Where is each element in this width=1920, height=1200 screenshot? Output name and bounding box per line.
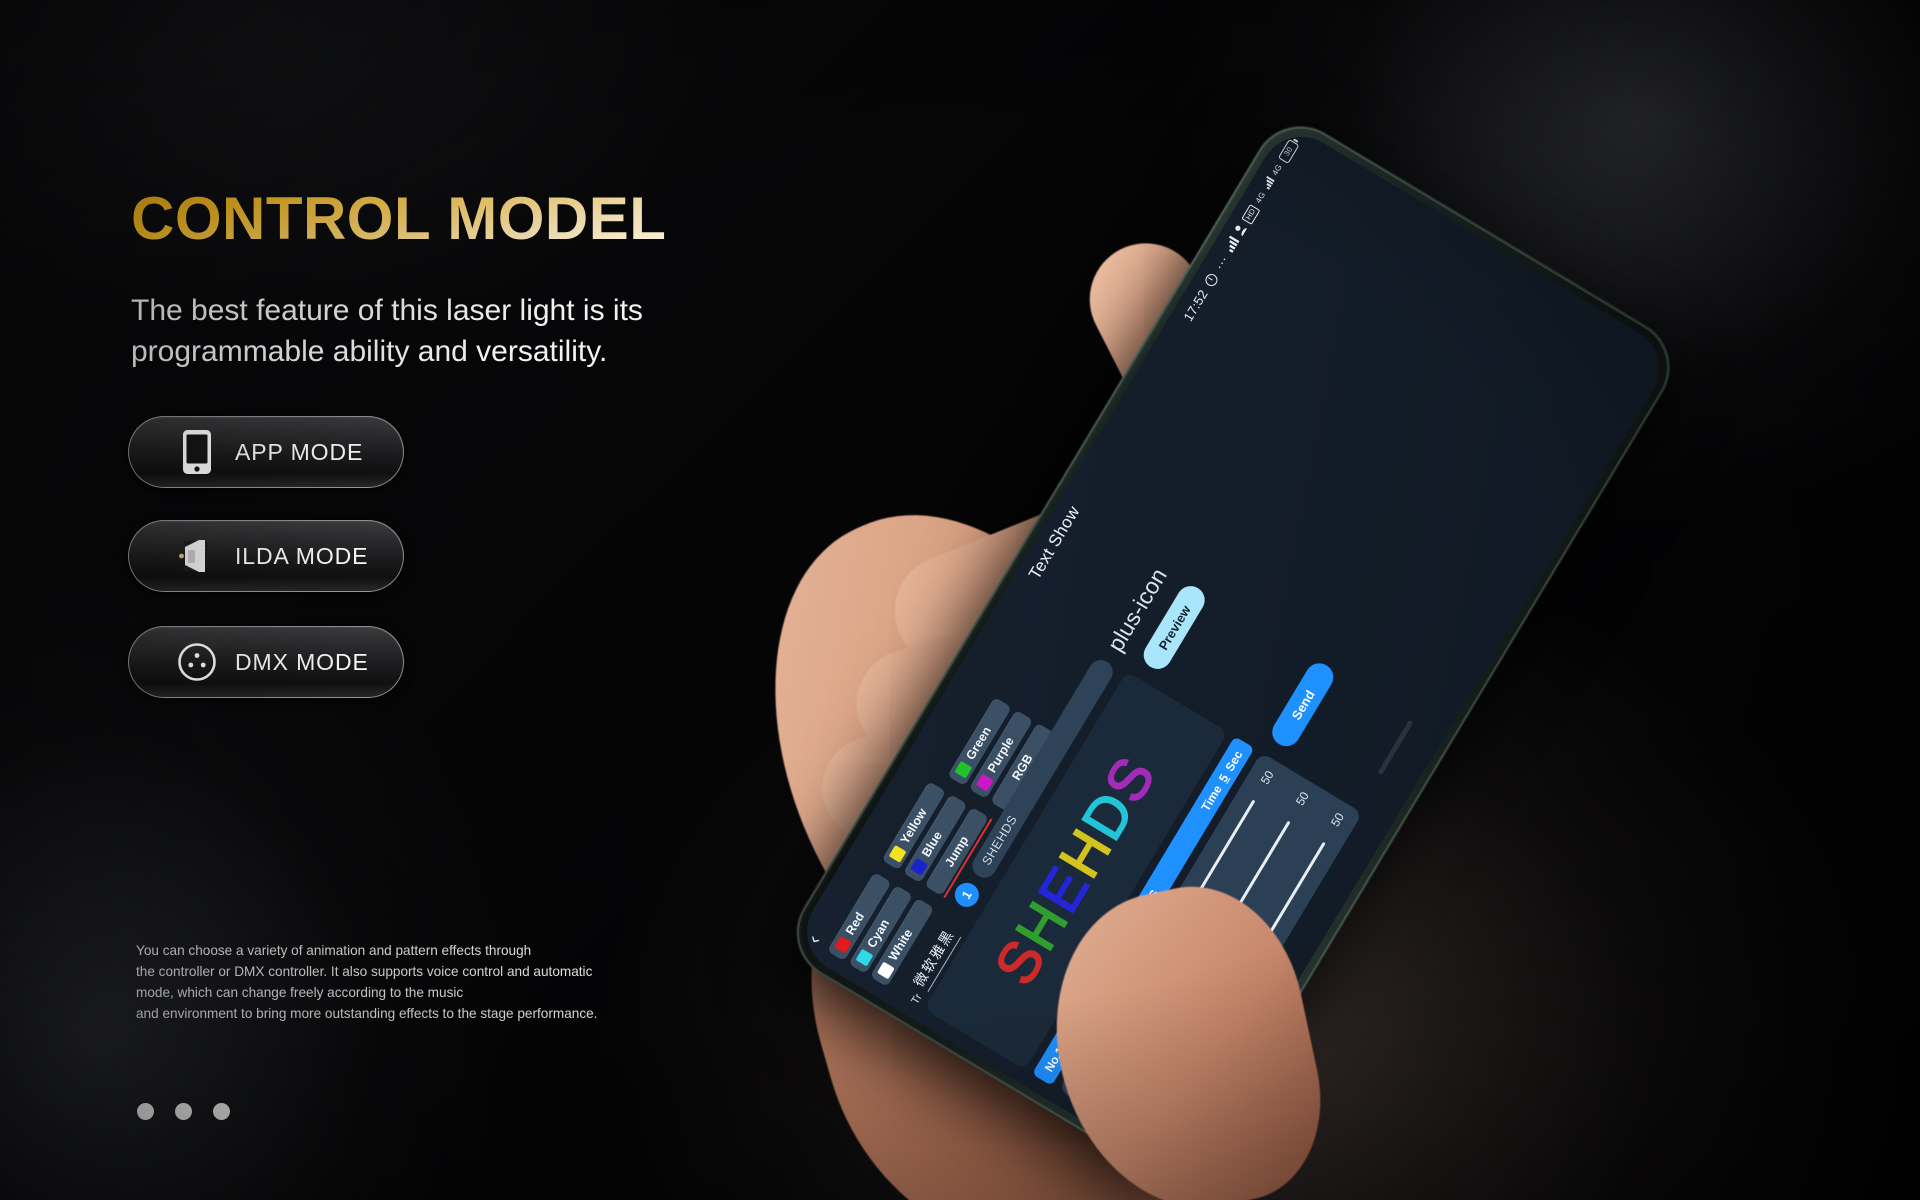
pagination-dot-3[interactable] [213, 1103, 230, 1120]
hd-badge-icon: HD [1241, 203, 1260, 224]
xlr-connector-icon [165, 634, 229, 690]
send-button[interactable]: Send [1267, 658, 1338, 751]
phone-in-hand-photo: 17:52 ··· HD 4G [760, 130, 1920, 1200]
slide-canvas: CONTROL MODEL The best feature of this l… [0, 0, 1920, 1200]
back-chevron-icon[interactable]: ‹ [805, 932, 825, 947]
color-chip-red-label: Red [843, 910, 867, 937]
swatch-white [877, 961, 895, 979]
pagination-dot-1[interactable] [137, 1103, 154, 1120]
alarm-clock-icon [1203, 271, 1219, 287]
smartphone-icon [165, 424, 229, 480]
time-label: Time [1198, 782, 1224, 813]
group-number-badge[interactable]: 1 [950, 878, 983, 911]
app-mode-label: APP MODE [235, 439, 363, 466]
slider-value-flow-speed: 50 [1323, 810, 1347, 838]
signal-bars-2-icon [1261, 176, 1277, 192]
swatch-red [834, 936, 852, 954]
swatch-blue [910, 858, 928, 876]
signal-bars-icon [1223, 235, 1242, 254]
ilda-mode-button[interactable]: ILDA MODE [128, 520, 404, 592]
swatch-green [954, 761, 972, 779]
description-line-2: the controller or DMX controller. It als… [136, 961, 696, 982]
ilda-mode-label: ILDA MODE [235, 543, 368, 570]
dmx-mode-button[interactable]: DMX MODE [128, 626, 404, 698]
user-icon [1232, 222, 1249, 238]
page-subtitle: The best feature of this laser light is … [131, 290, 771, 372]
pagination-dot-2[interactable] [175, 1103, 192, 1120]
time-value[interactable]: 5 [1215, 771, 1230, 784]
swatch-yellow [888, 845, 906, 863]
status-bar: 17:52 ··· HD 4G [1180, 138, 1300, 324]
more-dots-icon: ··· [1211, 253, 1231, 273]
ilda-connector-icon [165, 528, 229, 584]
network-label-2: 4G [1270, 163, 1284, 177]
slider-value-distance: 50 [1287, 789, 1311, 817]
battery-icon: 30 [1277, 139, 1299, 164]
pagination-dots[interactable] [137, 1103, 230, 1120]
description-line-3: mode, which can change freely according … [136, 982, 696, 1003]
description-paragraph: You can choose a variety of animation an… [136, 940, 696, 1024]
left-content-panel: CONTROL MODEL The best feature of this l… [0, 0, 880, 1200]
swatch-cyan [855, 948, 873, 966]
color-chip-blue-label: Blue [919, 829, 945, 859]
dmx-mode-label: DMX MODE [235, 649, 369, 676]
description-line-4: and environment to bring more outstandin… [136, 1003, 696, 1024]
network-label-1: 4G [1254, 190, 1268, 204]
slider-value-text-size: 50 [1252, 768, 1276, 796]
description-line-1: You can choose a variety of animation an… [136, 940, 696, 961]
color-chip-column-mid: Yellow Blue Jump [882, 781, 989, 896]
page-title: CONTROL MODEL [131, 189, 666, 249]
app-mode-button[interactable]: APP MODE [128, 416, 404, 488]
app-title: Text Show [1025, 503, 1084, 584]
status-time: 17:52 [1180, 287, 1210, 324]
swatch-purple [975, 773, 993, 791]
time-unit: Sec [1222, 748, 1245, 774]
font-type-icon: Tr [909, 992, 924, 1007]
status-icon-group: HD 4G 4G 30 [1223, 138, 1300, 254]
